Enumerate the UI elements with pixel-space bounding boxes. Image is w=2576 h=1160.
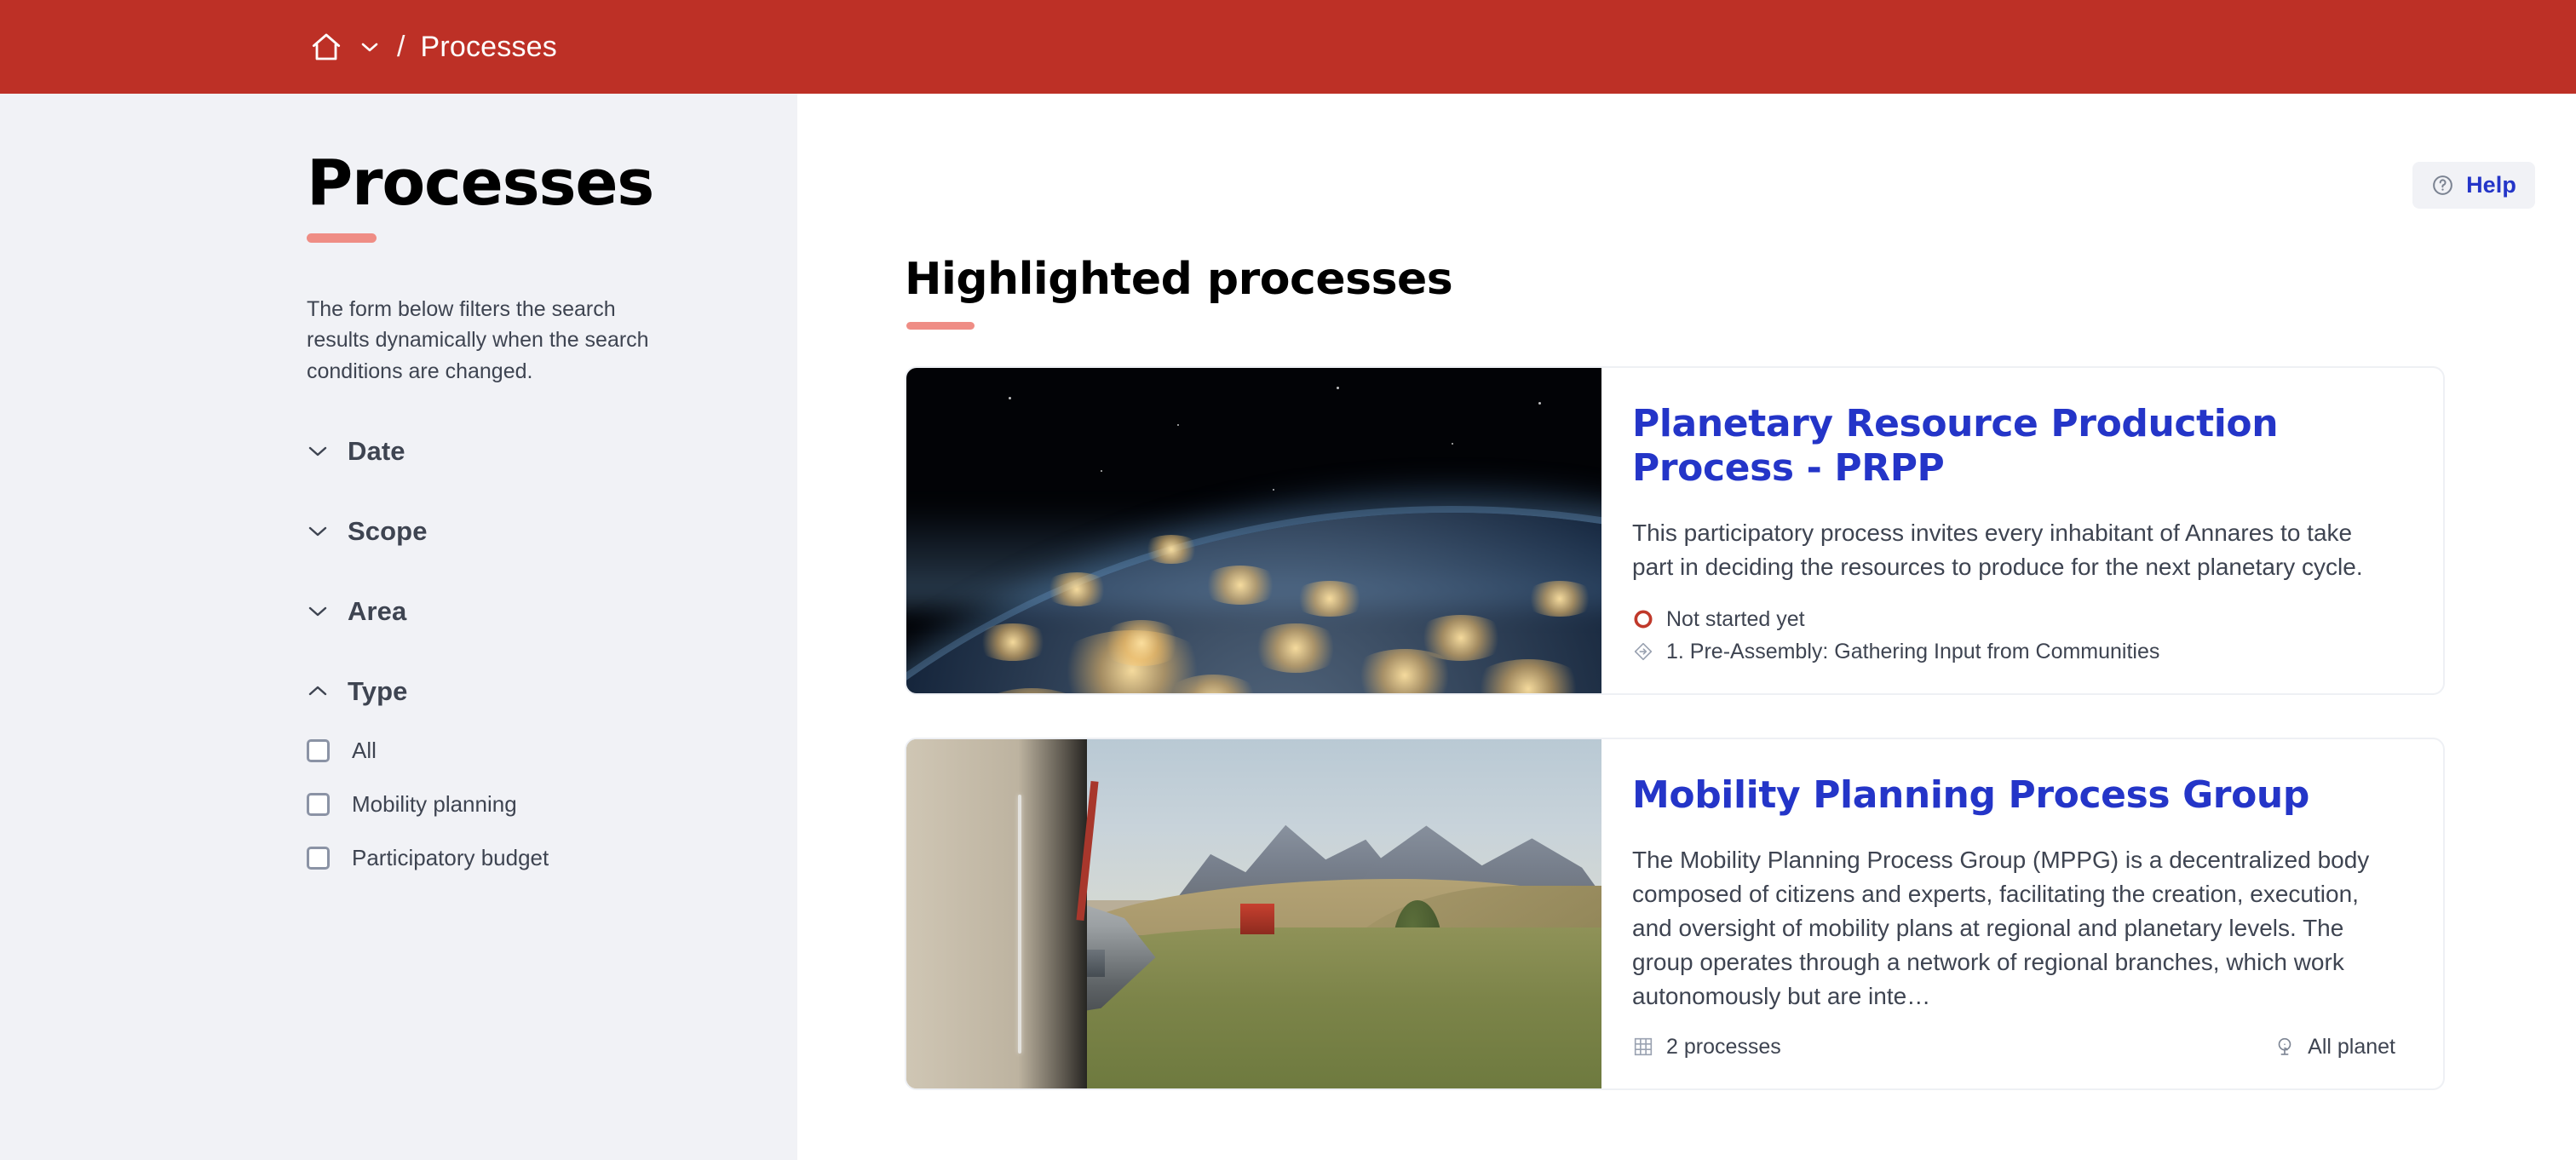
section-title-underline [906,322,975,330]
help-button[interactable]: Help [2412,162,2535,209]
card-scope-label: All planet [2308,1034,2395,1060]
breadcrumb-separator: / [397,32,405,61]
card-body: Mobility Planning Process Group The Mobi… [1601,739,2443,1088]
checkbox[interactable] [307,793,330,816]
chevron-down-icon[interactable] [351,29,388,65]
checkbox-label: Mobility planning [352,793,517,815]
card-title[interactable]: Mobility Planning Process Group [1632,773,2395,818]
chevron-up-icon [307,680,329,703]
diamond-arrow-icon [1632,640,1654,663]
home-icon[interactable] [308,29,344,65]
filter-group-scope[interactable]: Scope [307,516,797,547]
card-footer: 2 processes [1632,1014,2395,1060]
page-title: Processes [307,152,797,215]
card-body: Planetary Resource Production Process - … [1601,368,2443,693]
process-card[interactable]: Planetary Resource Production Process - … [905,366,2445,695]
filter-group-label: Scope [348,516,428,547]
card-scope: All planet [2274,1034,2395,1060]
help-button-label: Help [2466,172,2516,198]
card-image-train-in-mountain-valley [906,739,1601,1088]
process-card[interactable]: Mobility Planning Process Group The Mobi… [905,738,2445,1090]
filter-group-date[interactable]: Date [307,436,797,467]
filter-option-participatory-budget[interactable]: Participatory budget [307,847,797,870]
main-content: Help Highlighted processes [797,94,2576,1160]
breadcrumb: / Processes [308,29,557,65]
breadcrumb-current[interactable]: Processes [420,31,557,64]
card-step: 1. Pre-Assembly: Gathering Input from Co… [1632,639,2395,664]
checkbox-label: All [352,739,377,761]
page-shell: Processes The form below filters the sea… [0,94,2576,1160]
globe-icon [2274,1036,2296,1058]
filter-group-label: Area [348,596,406,627]
page-title-underline [307,233,377,243]
process-card-list: Planetary Resource Production Process - … [905,366,2445,1090]
chevron-down-icon [307,440,329,462]
card-step-label: 1. Pre-Assembly: Gathering Input from Co… [1666,639,2159,664]
card-status-label: Not started yet [1666,606,1805,632]
section-title: Highlighted processes [905,257,1452,301]
card-description: The Mobility Planning Process Group (MPP… [1632,843,2395,1014]
filter-group-label: Type [348,676,407,707]
chevron-down-icon [307,600,329,623]
filter-options-type: All Mobility planning Participatory budg… [307,739,797,870]
checkbox[interactable] [307,847,330,870]
top-bar: / Processes [0,0,2576,94]
checkbox-label: Participatory budget [352,847,549,869]
card-title[interactable]: Planetary Resource Production Process - … [1632,402,2395,491]
checkbox[interactable] [307,739,330,762]
card-process-count: 2 processes [1632,1034,1781,1060]
filter-group-label: Date [348,436,405,467]
filters-sidebar: Processes The form below filters the sea… [0,94,797,1160]
card-status: Not started yet [1632,606,2395,632]
card-meta: Not started yet 1. Pre-Assembly: Gather [1632,584,2395,664]
card-image-earth-from-space-at-night [906,368,1601,693]
filter-option-all[interactable]: All [307,739,797,762]
filter-option-mobility-planning[interactable]: Mobility planning [307,793,797,816]
grid-icon [1632,1036,1654,1058]
card-description: This participatory process invites every… [1632,516,2395,584]
circle-outline-icon [1632,608,1654,630]
filter-group-type[interactable]: Type [307,676,797,707]
filter-help-text: The form below filters the search result… [307,294,681,387]
filter-group-area[interactable]: Area [307,596,797,627]
chevron-down-icon [307,520,329,543]
card-process-count-label: 2 processes [1666,1034,1781,1060]
question-circle-icon [2431,174,2454,197]
